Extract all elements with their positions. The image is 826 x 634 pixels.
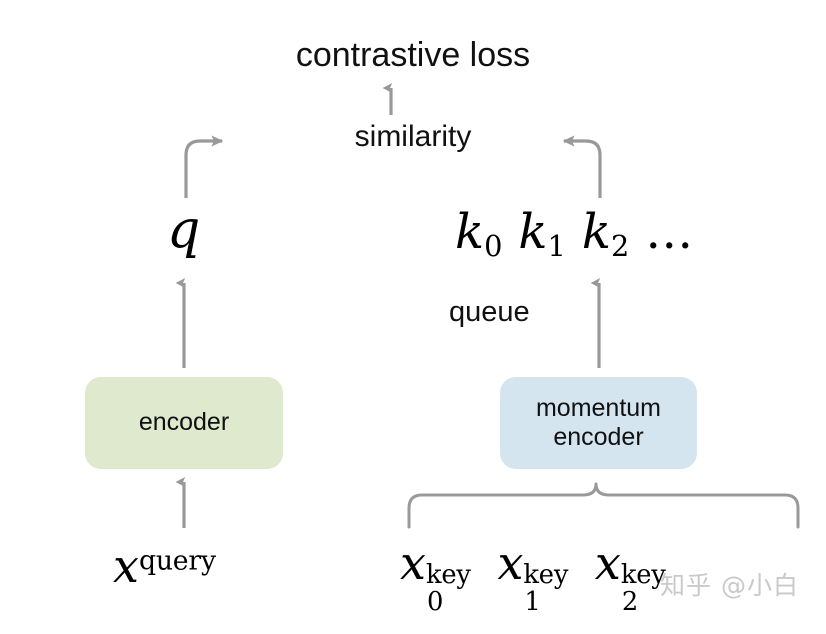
query-representation-symbol: q — [167, 204, 200, 256]
encoder-box[interactable]: encoder — [85, 377, 283, 469]
contrastive-loss-label: contrastive loss — [0, 38, 826, 72]
key-symbols-ellipsis: … — [645, 204, 695, 260]
key-representations-row: k0k1k2… — [455, 208, 695, 261]
x-query-superscript: query — [139, 546, 216, 577]
key-symbol-0: k0 — [455, 204, 502, 260]
key-symbol-1: k1 — [518, 204, 565, 260]
key-symbol-2: k2 — [582, 204, 629, 260]
x-query-base: x — [113, 539, 139, 593]
watermark: 知乎 @小白 — [660, 566, 799, 602]
key-input-symbol-1: xkey1 — [497, 540, 580, 586]
momentum-encoder-line2: encoder — [553, 423, 643, 451]
encoder-box-label: encoder — [139, 408, 229, 438]
key-input-symbol-0: xkey0 — [400, 540, 483, 586]
similarity-label: similarity — [0, 122, 826, 152]
queue-label: queue — [449, 298, 530, 327]
diagram-canvas: contrastive loss similarity q k0k1k2… qu… — [0, 0, 826, 634]
key-inputs-row: xkey0xkey1xkey2 — [400, 540, 678, 586]
query-input-symbol: xquery — [113, 543, 216, 589]
q-glyph: q — [167, 200, 200, 260]
momentum-encoder-line1: momentum — [536, 394, 661, 422]
brace-key-inputs — [409, 484, 798, 527]
momentum-encoder-box-label: momentum encoder — [536, 394, 661, 453]
momentum-encoder-box[interactable]: momentum encoder — [500, 377, 697, 469]
